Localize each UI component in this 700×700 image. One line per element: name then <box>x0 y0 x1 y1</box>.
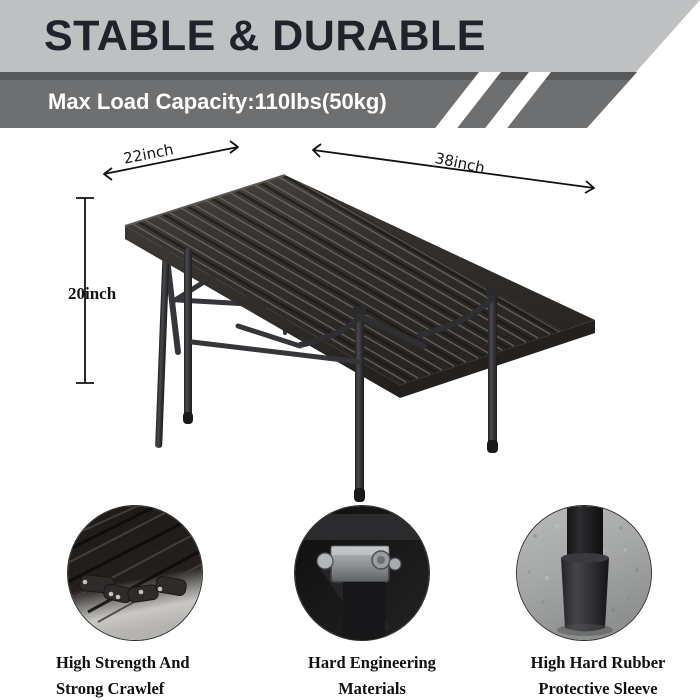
product-diagram <box>0 130 700 510</box>
header-band-divider <box>0 72 700 80</box>
callout-caption-line1: High Hard Rubber <box>504 650 692 676</box>
table-leg-front-left <box>183 248 193 424</box>
callout-caption-line2: Materials <box>267 676 477 700</box>
page-title: STABLE & DURABLE <box>44 8 486 64</box>
callout-hard-engineering-materials: Hard Engineering Materials <box>263 505 477 700</box>
callout-caption: Hard Engineering Materials <box>263 650 477 700</box>
callout-circle-image <box>516 505 652 641</box>
max-load-capacity-label: Max Load Capacity:110lbs(50kg) <box>48 80 387 124</box>
callout-caption: High Hard Rubber Protective Sleeve <box>478 650 692 700</box>
callout-high-strength-crawler: High Strength And Strong Crawlef <box>48 505 262 700</box>
table-hinge-photo-icon <box>68 506 202 640</box>
header-banner: STABLE & DURABLE Max Load Capacity:110lb… <box>0 0 700 128</box>
rubber-foot-photo-icon <box>517 506 651 640</box>
callout-caption-line2: Protective Sleeve <box>504 676 692 700</box>
callout-circle-image <box>67 505 203 641</box>
callout-caption-line2: Strong Crawlef <box>56 676 262 700</box>
dimension-label-height: 20inch <box>68 284 116 304</box>
leg-bracket-photo-icon <box>295 506 429 640</box>
table-leg-rear-left <box>155 242 170 448</box>
callout-caption-line1: High Strength And <box>56 650 262 676</box>
infographic-page: STABLE & DURABLE Max Load Capacity:110lb… <box>0 0 700 700</box>
callout-caption-line1: Hard Engineering <box>267 650 477 676</box>
callout-high-hard-rubber-sleeve: High Hard Rubber Protective Sleeve <box>478 505 692 700</box>
callout-circle-image <box>294 505 430 641</box>
callout-caption: High Strength And Strong Crawlef <box>48 650 262 700</box>
